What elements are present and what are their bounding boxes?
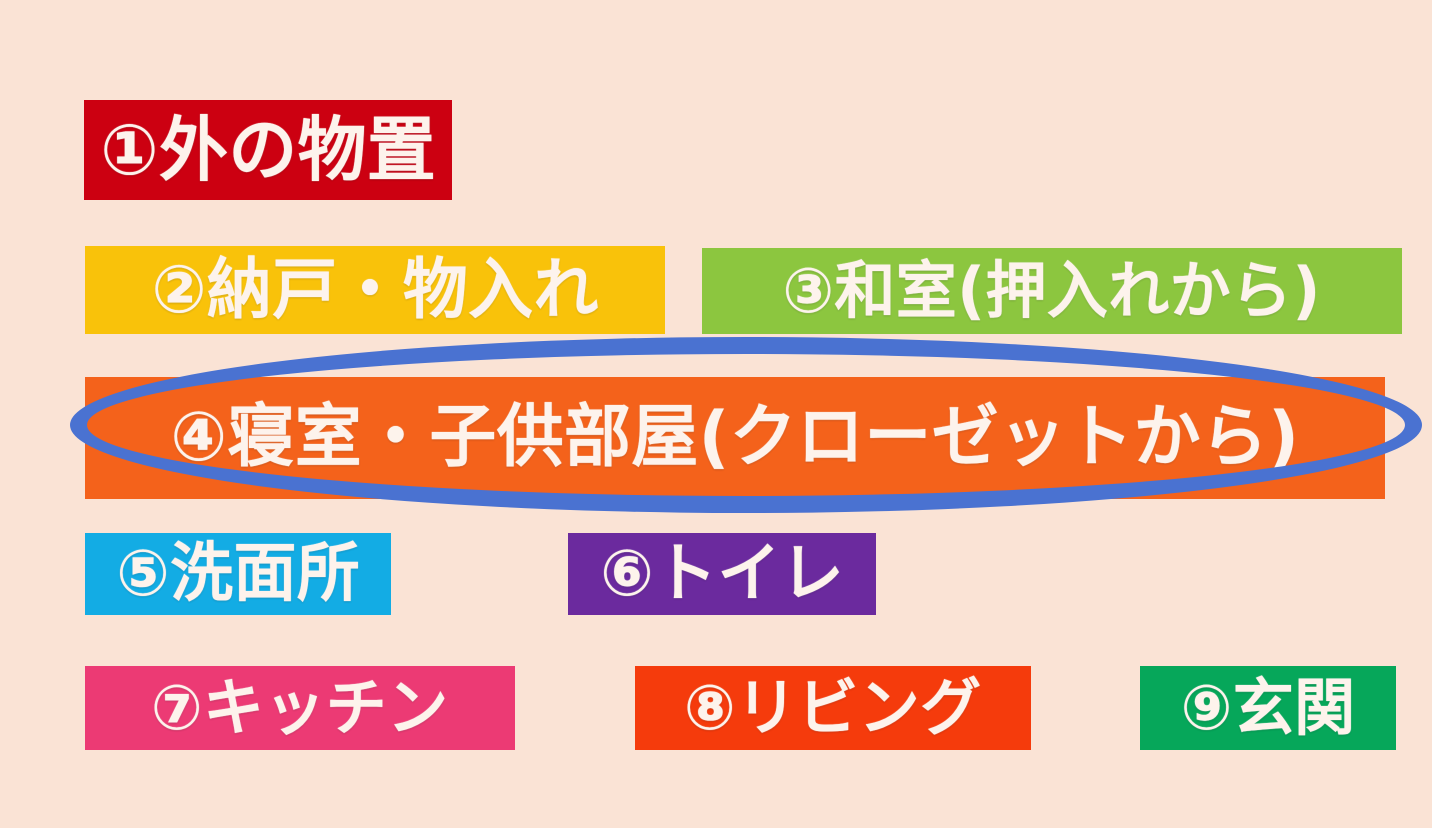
room-label-text-2: ②納戸・物入れ	[151, 257, 598, 323]
room-label-block-6[interactable]: ⑥トイレ	[568, 533, 876, 615]
room-label-text-9: ⑨玄関	[1181, 677, 1356, 739]
room-label-block-7[interactable]: ⑦キッチン	[85, 666, 515, 750]
room-label-block-5[interactable]: ⑤洗面所	[85, 533, 391, 615]
room-label-text-1: ①外の物置	[100, 115, 436, 185]
room-label-block-9[interactable]: ⑨玄関	[1140, 666, 1396, 750]
room-label-text-4: ④寝室・子供部屋(クローゼットから)	[171, 404, 1300, 472]
room-label-text-3: ③和室(押入れから)	[783, 260, 1321, 322]
room-label-text-5: ⑤洗面所	[116, 542, 360, 606]
ordered-room-list-poster: ①外の物置 ②納戸・物入れ ③和室(押入れから) ④寝室・子供部屋(クローゼット…	[0, 0, 1432, 828]
room-label-block-1[interactable]: ①外の物置	[84, 100, 452, 200]
room-label-block-3[interactable]: ③和室(押入れから)	[702, 248, 1402, 334]
room-label-text-8: ⑧リビング	[684, 677, 982, 739]
room-label-block-2[interactable]: ②納戸・物入れ	[85, 246, 665, 334]
room-label-text-6: ⑥トイレ	[600, 542, 844, 606]
room-label-text-7: ⑦キッチン	[151, 677, 449, 739]
room-label-block-8[interactable]: ⑧リビング	[635, 666, 1031, 750]
room-label-block-4[interactable]: ④寝室・子供部屋(クローゼットから)	[85, 377, 1385, 499]
